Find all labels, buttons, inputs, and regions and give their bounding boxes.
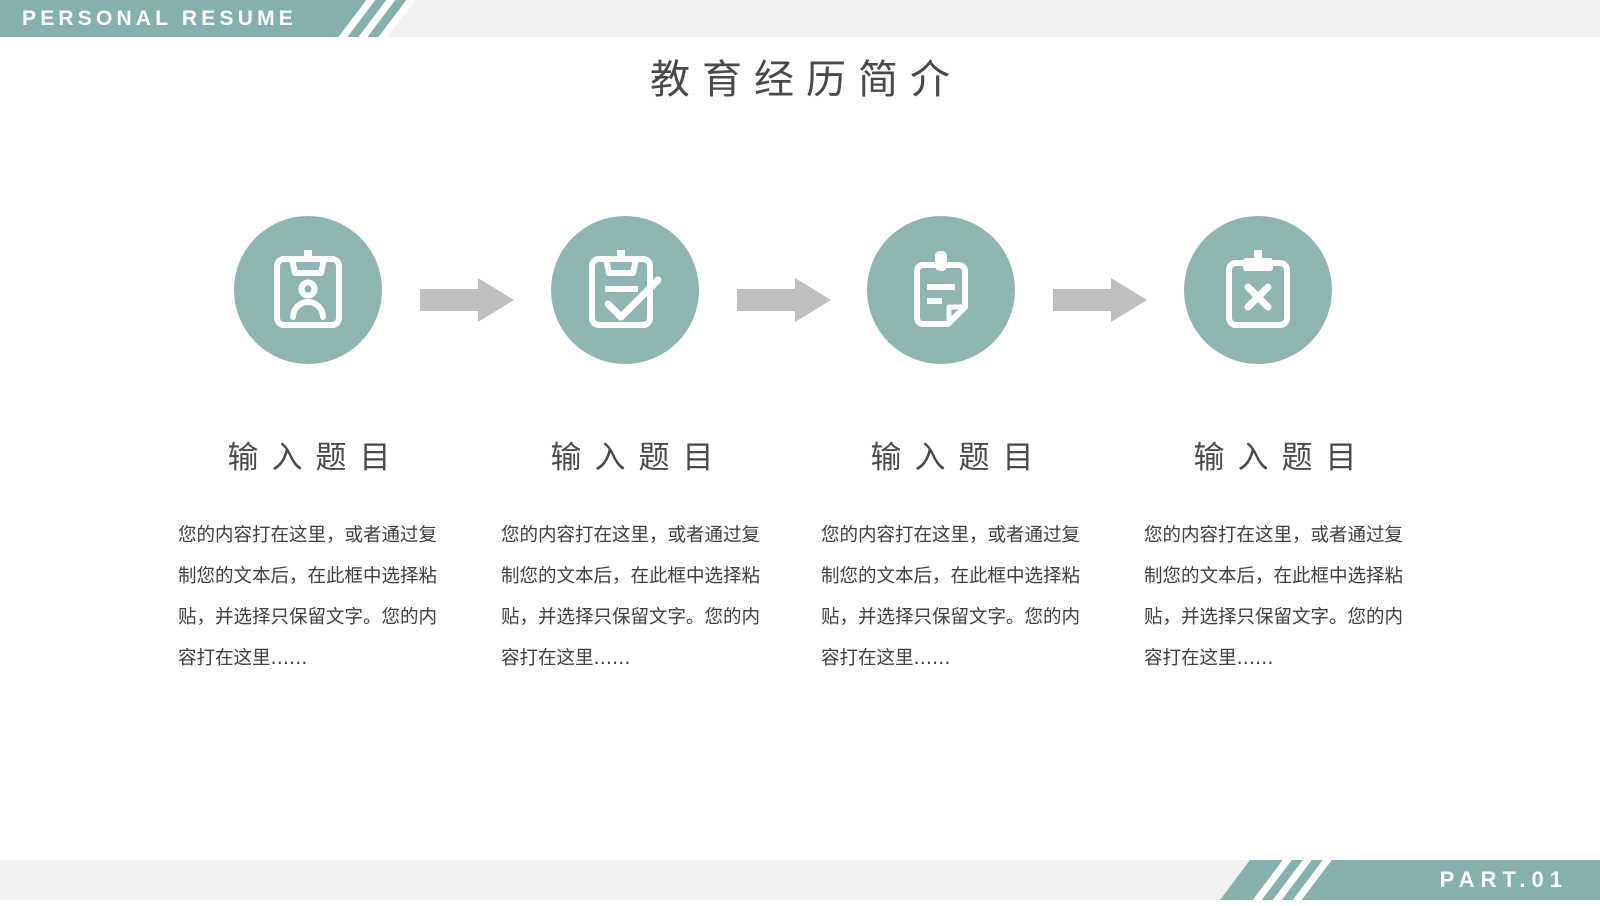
- step-circle-3[interactable]: [867, 216, 1015, 364]
- arrow-right-icon-body: [737, 289, 799, 311]
- clipboard-lines-icon: [904, 249, 978, 329]
- column-heading: 输入题目: [821, 432, 1083, 477]
- header-stripes-group: [352, 0, 422, 37]
- footer-part-label: PART.01: [1440, 860, 1568, 900]
- column-heading: 输入题目: [1144, 432, 1406, 477]
- clipboard-check-icon: [586, 249, 664, 329]
- step-arrow-1: [420, 278, 514, 322]
- clipboard-x-icon: [1221, 249, 1295, 329]
- arrow-right-icon-head: [795, 278, 831, 322]
- arrow-right-icon-head: [478, 278, 514, 322]
- column-body-text: 您的内容打在这里，或者通过复制您的文本后，在此框中选择粘贴，并选择只保留文字。您…: [821, 515, 1083, 679]
- column-body-text: 您的内容打在这里，或者通过复制您的文本后，在此框中选择粘贴，并选择只保留文字。您…: [178, 515, 440, 679]
- step-arrow-2: [737, 278, 831, 322]
- content-column-1: 输入题目 您的内容打在这里，或者通过复制您的文本后，在此框中选择粘贴，并选择只保…: [178, 432, 440, 679]
- page-title: 教育经历简介: [0, 47, 1600, 105]
- column-body-text: 您的内容打在这里，或者通过复制您的文本后，在此框中选择粘贴，并选择只保留文字。您…: [501, 515, 763, 679]
- step-circle-2[interactable]: [551, 216, 699, 364]
- footer-stripes-group: [1267, 860, 1339, 900]
- content-column-4: 输入题目 您的内容打在这里，或者通过复制您的文本后，在此框中选择粘贴，并选择只保…: [1144, 432, 1406, 679]
- header-brand-label: PERSONAL RESUME: [22, 0, 297, 37]
- step-circle-1[interactable]: [234, 216, 382, 364]
- arrow-right-icon-body: [1053, 289, 1115, 311]
- process-steps-row: [0, 216, 1600, 366]
- column-heading: 输入题目: [501, 432, 763, 477]
- step-circle-4[interactable]: [1184, 216, 1332, 364]
- column-body-text: 您的内容打在这里，或者通过复制您的文本后，在此框中选择粘贴，并选择只保留文字。您…: [1144, 515, 1406, 679]
- arrow-right-icon-body: [420, 289, 482, 311]
- arrow-right-icon-head: [1111, 278, 1147, 322]
- content-column-3: 输入题目 您的内容打在这里，或者通过复制您的文本后，在此框中选择粘贴，并选择只保…: [821, 432, 1083, 679]
- column-heading: 输入题目: [178, 432, 440, 477]
- step-arrow-3: [1053, 278, 1147, 322]
- clipboard-person-icon: [271, 249, 345, 329]
- content-column-2: 输入题目 您的内容打在这里，或者通过复制您的文本后，在此框中选择粘贴，并选择只保…: [501, 432, 763, 679]
